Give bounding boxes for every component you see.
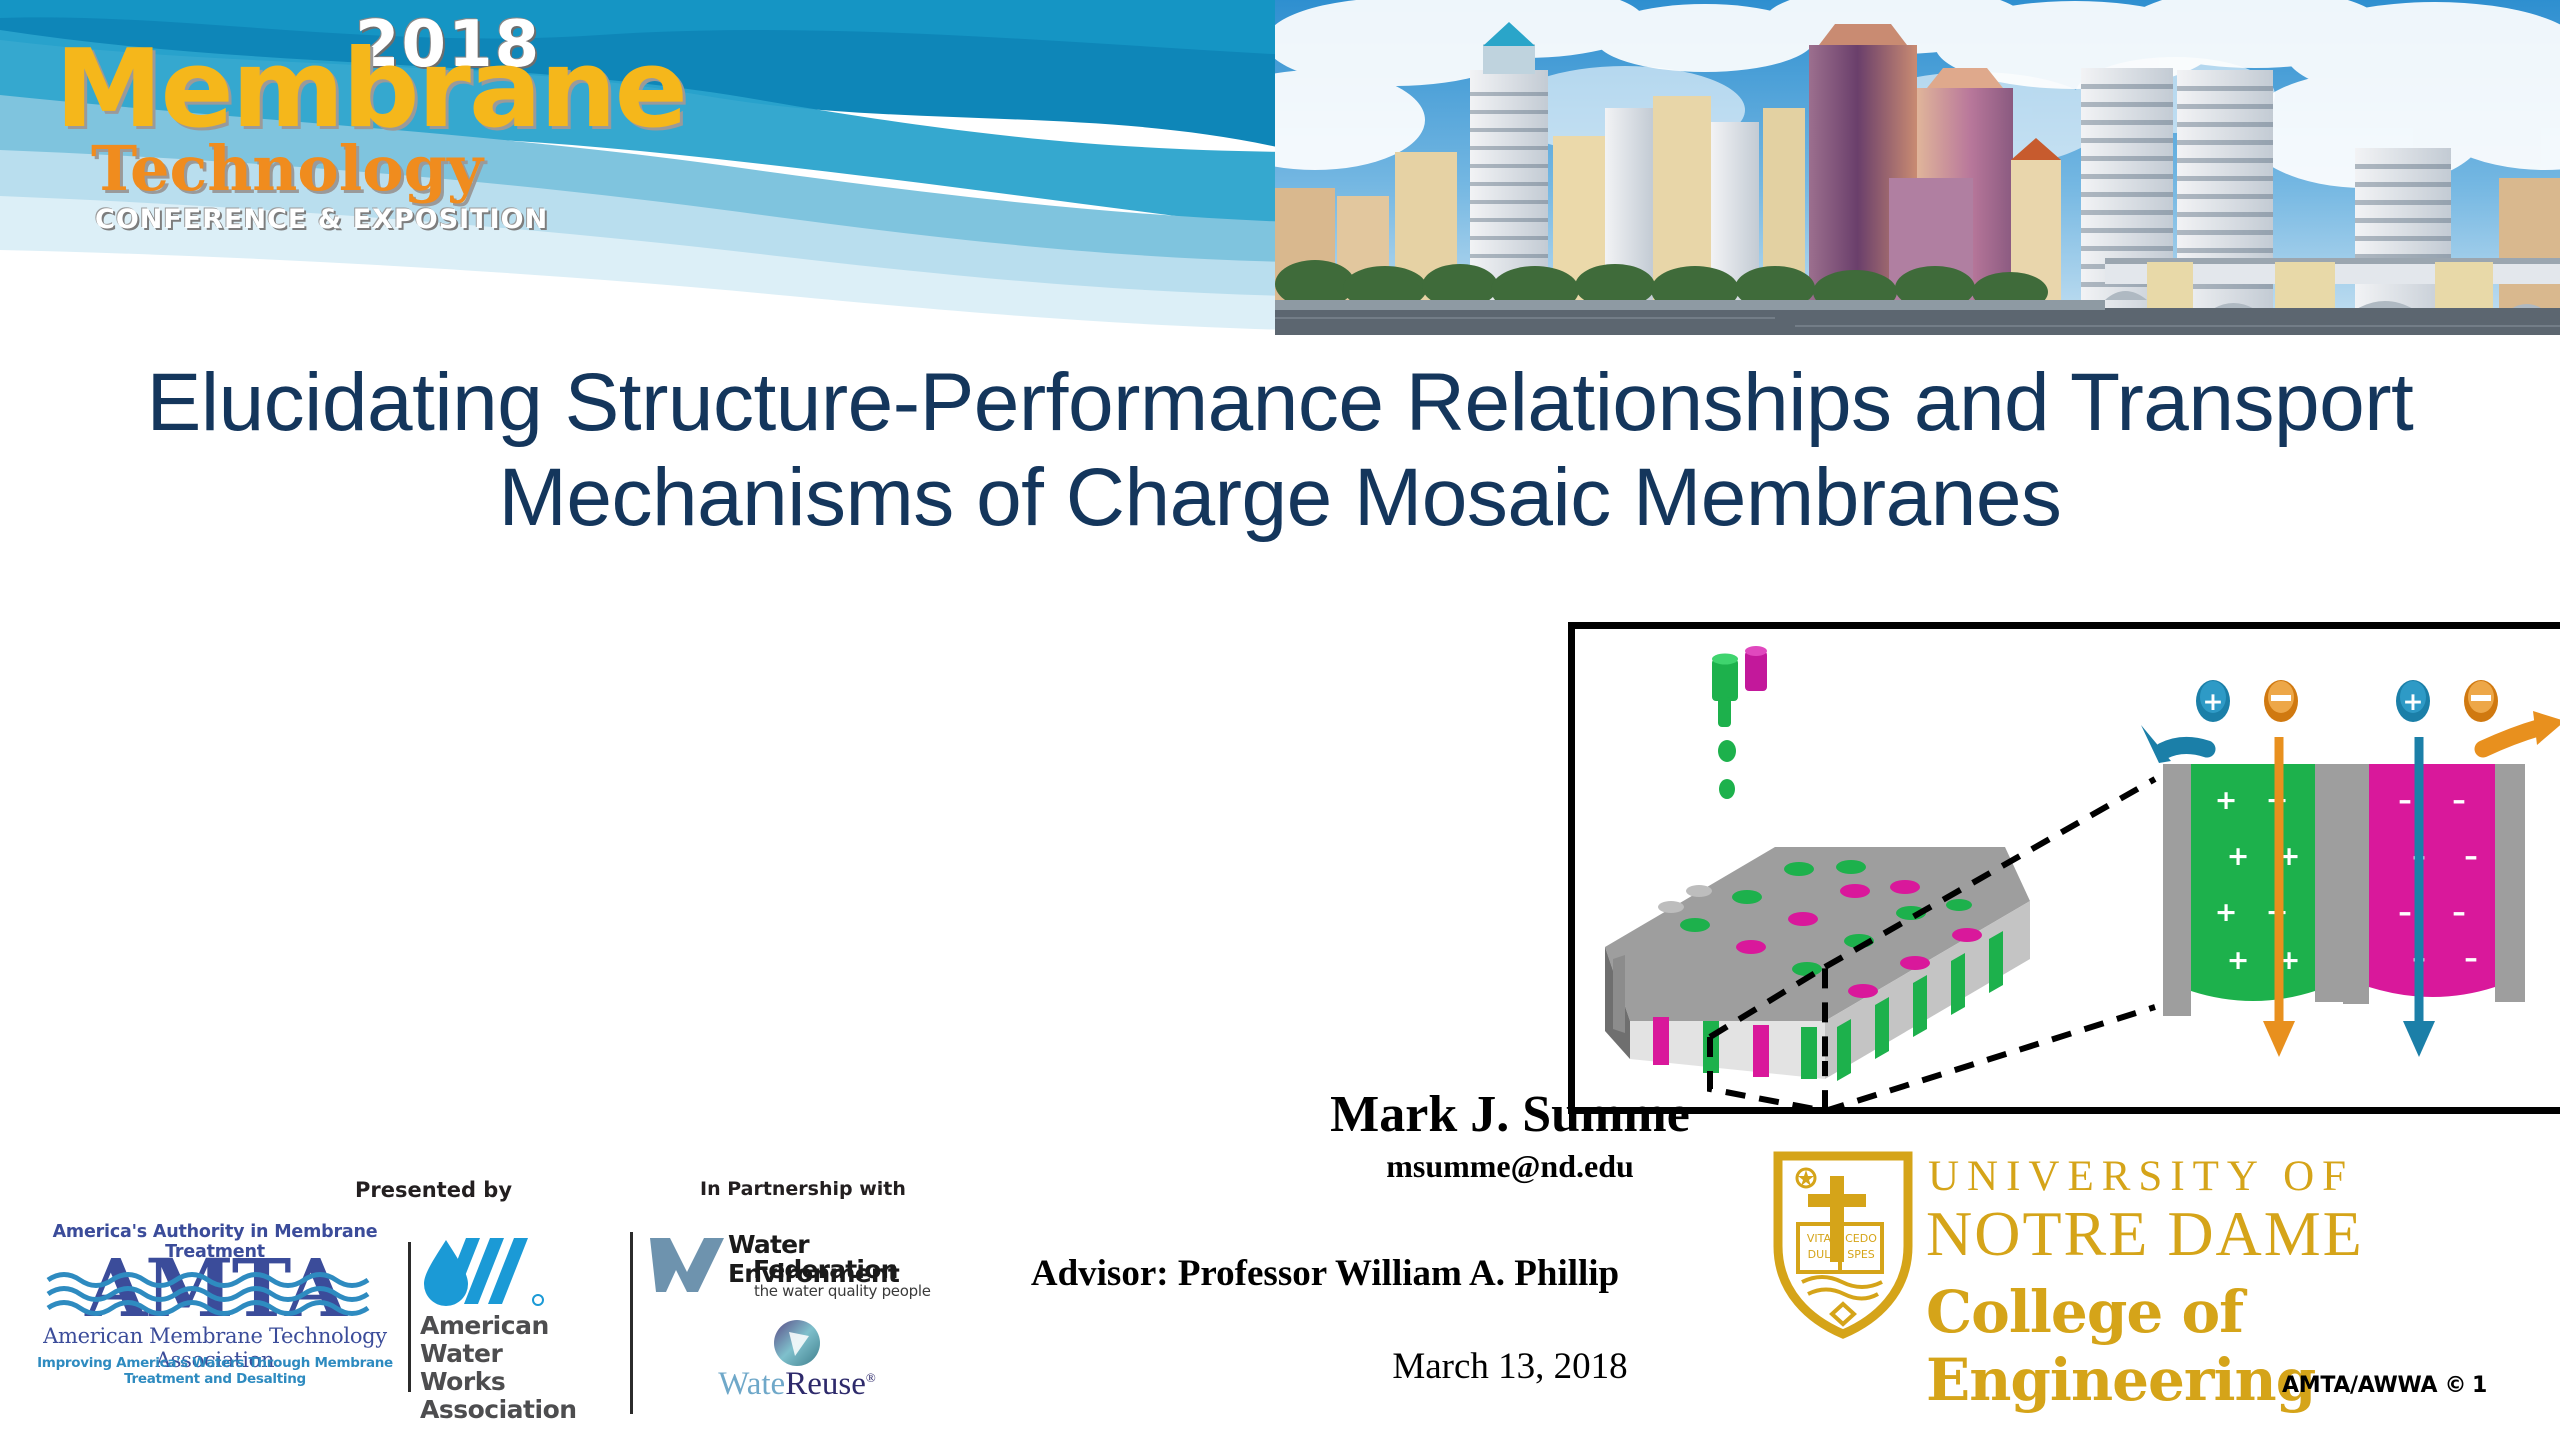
svg-text:+: + bbox=[2215, 785, 2238, 816]
watereuse-name: WateReuse® bbox=[672, 1366, 922, 1403]
amta-logo: America's Authority in Membrane Treatmen… bbox=[35, 1222, 395, 1407]
amta-acronym-mark: AMTA bbox=[40, 1246, 390, 1324]
svg-text:–: – bbox=[2464, 841, 2478, 872]
conference-logo: 2018 Membrane Technology CONFERENCE & EX… bbox=[55, 8, 575, 208]
watereuse-name-light: Wate bbox=[718, 1366, 785, 1402]
amta-tagline-bottom: Improving America's Waters Through Membr… bbox=[35, 1355, 395, 1387]
awwa-name-line1: American bbox=[420, 1312, 595, 1340]
awwa-name: American Water Works Association bbox=[420, 1312, 595, 1424]
presented-by-label: Presented by bbox=[355, 1178, 512, 1202]
svg-text:+: + bbox=[2227, 841, 2250, 872]
wef-chevron-icon bbox=[648, 1234, 726, 1296]
svg-text:–: – bbox=[2398, 785, 2412, 816]
svg-text:+: + bbox=[2203, 687, 2224, 716]
svg-text:CEDO: CEDO bbox=[1845, 1232, 1877, 1245]
watereuse-logo: WateReuse® bbox=[672, 1318, 922, 1413]
awwa-name-line3: Association bbox=[420, 1396, 595, 1424]
conference-logo-subtitle: CONFERENCE & EXPOSITION bbox=[95, 204, 548, 235]
wef-logo: Water Environment Federation the water q… bbox=[648, 1230, 948, 1315]
svg-text:DUL: DUL bbox=[1808, 1248, 1832, 1261]
watereuse-registered: ® bbox=[866, 1370, 876, 1385]
svg-text:VITA: VITA bbox=[1807, 1232, 1832, 1245]
notre-dame-logo: VITA DUL CEDO SPES UNIVERSITY OF NOTRE D… bbox=[1768, 1150, 2548, 1400]
notre-dame-shield-icon: VITA DUL CEDO SPES bbox=[1768, 1150, 1918, 1340]
watereuse-name-dark: Reuse bbox=[785, 1366, 866, 1402]
wef-tagline: the water quality people bbox=[754, 1282, 931, 1300]
svg-text:+: + bbox=[2215, 897, 2238, 928]
svg-text:–: – bbox=[2398, 897, 2412, 928]
skyline-photo bbox=[1275, 0, 2560, 335]
svg-text:–: – bbox=[2452, 897, 2466, 928]
page-title: Elucidating Structure-Performance Relati… bbox=[70, 355, 2490, 545]
svg-text:–: – bbox=[2452, 785, 2466, 816]
notre-dame-name-line: NOTRE DAME bbox=[1926, 1197, 2364, 1271]
charge-mosaic-membrane-diagram: ++ ++ ++ ++ –– –– –– –– bbox=[1568, 622, 2560, 1114]
svg-text:+: + bbox=[2403, 687, 2424, 716]
awwa-name-line2: Water Works bbox=[420, 1340, 595, 1396]
slide-header: 2018 Membrane Technology CONFERENCE & EX… bbox=[0, 0, 2560, 340]
sponsor-divider-2 bbox=[630, 1232, 633, 1414]
magnified-channels: ++ ++ ++ ++ –– –– –– –– bbox=[2163, 764, 2525, 1016]
in-partnership-label: In Partnership with bbox=[700, 1178, 906, 1200]
svg-text:SPES: SPES bbox=[1847, 1248, 1875, 1261]
awwa-drop-icon bbox=[420, 1232, 595, 1310]
author-name: Mark J. Summe bbox=[1060, 1085, 1960, 1144]
conference-logo-technology: Technology bbox=[91, 138, 483, 200]
notre-dame-university-line: UNIVERSITY OF bbox=[1928, 1152, 2354, 1201]
sponsor-divider-1 bbox=[408, 1242, 411, 1392]
svg-text:–: – bbox=[2464, 943, 2478, 974]
slide-number: 1 bbox=[2472, 1373, 2487, 1398]
conference-logo-membrane: Membrane bbox=[55, 36, 686, 144]
copyright-footer: AMTA/AWWA © bbox=[2282, 1373, 2466, 1398]
watereuse-swirl-icon bbox=[771, 1318, 823, 1368]
awwa-logo: American Water Works Association bbox=[420, 1232, 595, 1412]
wef-name-line2: Federation bbox=[753, 1255, 898, 1284]
svg-text:+: + bbox=[2227, 945, 2250, 976]
advisor-line: Advisor: Professor William A. Phillip bbox=[830, 1252, 1820, 1295]
